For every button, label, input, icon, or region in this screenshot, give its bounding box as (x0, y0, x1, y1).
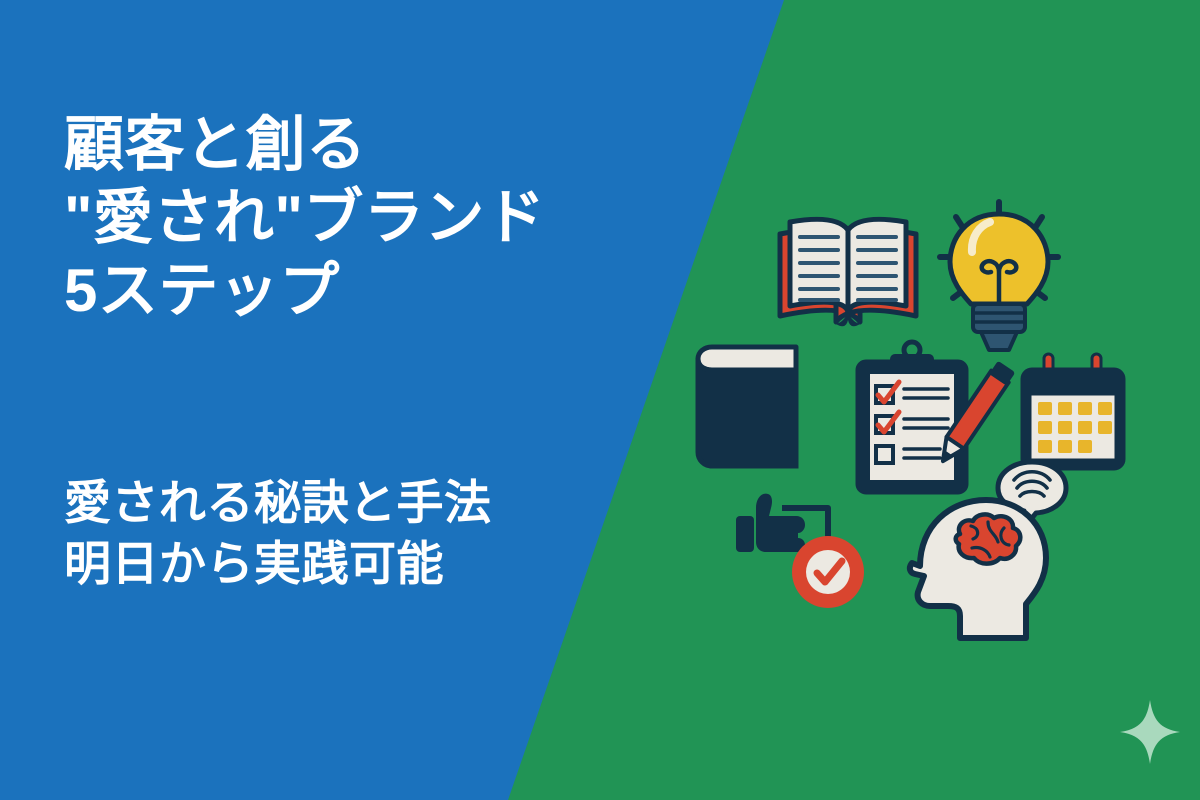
subheadline: 愛される秘訣と手法 明日から実践可能 (64, 472, 664, 594)
subheadline-line-1: 愛される秘訣と手法 (64, 472, 664, 533)
subheadline-line-2: 明日から実践可能 (64, 533, 664, 594)
headline-line-3: 5ステップ (64, 254, 664, 327)
sparkle-star-icon (1120, 700, 1180, 764)
headline-line-2: "愛され"ブランド (64, 181, 664, 254)
closed-book-icon (698, 347, 796, 466)
illustration-cluster (668, 176, 1168, 652)
lightbulb-icon (940, 202, 1058, 350)
clipboard-checklist-icon (858, 342, 1015, 492)
open-book-icon (780, 219, 916, 326)
headline: 顧客と創る "愛され"ブランド 5ステップ (64, 108, 664, 328)
thumbs-up-check-badge-icon (736, 494, 864, 608)
thumbs-up-icon (736, 494, 805, 552)
slide-canvas: 顧客と創る "愛され"ブランド 5ステップ 愛される秘訣と手法 明日から実践可能 (0, 0, 1200, 800)
text-column: 顧客と創る "愛され"ブランド 5ステップ 愛される秘訣と手法 明日から実践可能 (0, 0, 640, 800)
calendar-icon (1023, 354, 1123, 468)
headline-line-1: 顧客と創る (64, 108, 664, 181)
